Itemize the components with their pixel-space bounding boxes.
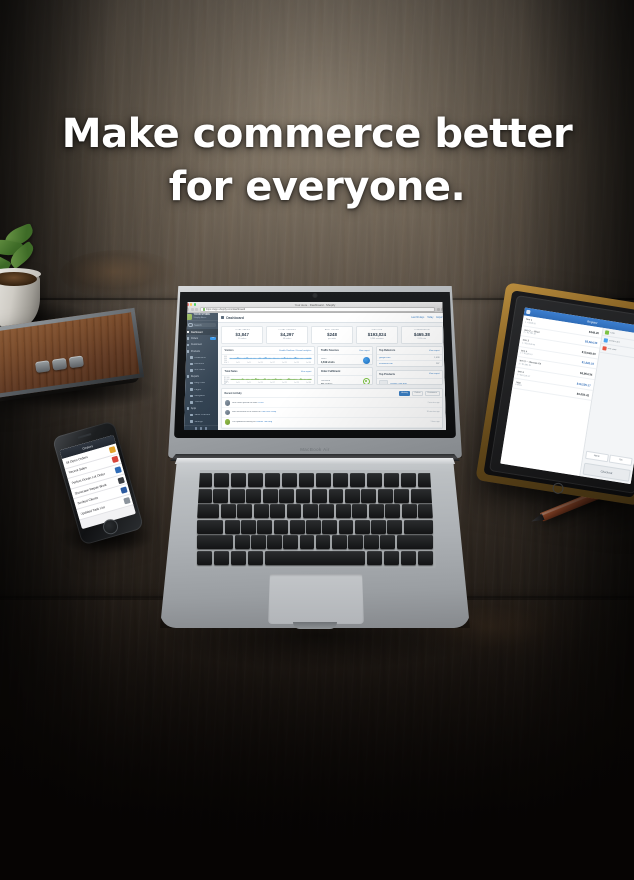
key[interactable] <box>197 551 212 565</box>
key[interactable] <box>230 489 245 503</box>
search-icon <box>188 323 193 328</box>
key[interactable] <box>306 520 321 534</box>
key[interactable] <box>248 473 263 487</box>
sidebar-item-label: Sales Channels <box>194 414 210 416</box>
traffic-source-icon <box>363 357 370 364</box>
key[interactable] <box>402 504 417 518</box>
key[interactable] <box>371 520 386 534</box>
fulfilment-text: Unfulfilled18 orders <box>321 380 361 385</box>
key[interactable] <box>361 489 376 503</box>
pages-icon <box>190 388 193 391</box>
keyboard-row <box>197 535 433 549</box>
brand[interactable]: YOUR STORE Shopify Admin <box>184 313 218 321</box>
key[interactable] <box>283 535 298 549</box>
visitors-chart: 6004002000 <box>224 357 312 359</box>
chart-title: Visitors <box>225 349 234 352</box>
pos-item-price: $1,520.10 <box>581 360 594 366</box>
traffic-value: 4,819 visits <box>321 361 361 364</box>
stat-label: TOTAL SALES <box>224 329 260 331</box>
key[interactable] <box>385 504 400 518</box>
reload-icon[interactable] <box>195 308 198 311</box>
sales-chart: $1,500$1,000$500$0 <box>224 378 312 380</box>
share-icon[interactable] <box>437 308 440 311</box>
key[interactable] <box>418 504 433 518</box>
step-ring-icon <box>363 378 370 385</box>
stat-card: VISITORS$193,0243,204 sessions <box>356 326 398 344</box>
top-referrers-card: Top Referrers View report google.com1,03… <box>376 346 443 367</box>
key[interactable] <box>251 535 266 549</box>
stat-sub: 2.4% rate <box>404 338 440 340</box>
key[interactable] <box>263 489 278 503</box>
order-status-icon <box>120 487 127 494</box>
x-tick: Jul 5 <box>236 362 240 364</box>
shopify-admin[interactable]: YOUR STORE Shopify Admin Search Dashboar… <box>184 313 446 430</box>
chart-link[interactable]: View report <box>301 371 311 373</box>
trackpad[interactable] <box>268 574 364 624</box>
key[interactable] <box>378 489 393 503</box>
lock-icon <box>203 308 205 310</box>
sidebar-item-label: Customers <box>191 343 203 346</box>
x-tick: Jul 25 <box>294 382 299 384</box>
x-tick: Jul 5 <box>236 382 240 384</box>
charts-column: Visitors Enable Realtime / Funnel analyt… <box>221 346 315 385</box>
product-thumbnail <box>379 380 388 385</box>
sidebar-item-label: Collections <box>194 357 205 359</box>
activity-row: Sara McKenzie left a review on Oak Desk … <box>222 408 442 418</box>
admin-content: Dashboard Last 30 daysTodayExport TOTAL … <box>218 313 446 430</box>
card-header: Top Referrers View report <box>377 347 442 355</box>
order-status-icon <box>123 497 130 504</box>
stat-card: TOTAL SALES$3,84730 orders <box>221 326 263 344</box>
keyboard-row <box>197 473 433 487</box>
stat-sub: per order <box>314 338 350 340</box>
panel-link[interactable]: View report <box>429 373 439 375</box>
notifications-icon[interactable] <box>200 427 203 430</box>
x-tick: Jul 13 <box>258 382 263 384</box>
key[interactable] <box>367 473 382 487</box>
customers-icon <box>187 344 190 347</box>
x-tick: Jul 21 <box>282 362 287 364</box>
header-links[interactable]: Last 30 daysTodayExport <box>411 317 443 319</box>
dashboard-board: TOTAL SALES$3,84730 ordersTOTAL ORDERS$4… <box>218 323 446 430</box>
card-header: Visitors Enable Realtime / Funnel analyt… <box>222 347 314 355</box>
keyboard-row <box>197 520 433 534</box>
stat-cards: TOTAL SALES$3,84730 ordersTOTAL ORDERS$4… <box>221 326 443 344</box>
referrer-name[interactable]: google.com <box>379 357 432 359</box>
sidebar-item-label: Navigation <box>194 395 205 397</box>
pos-item-price: $3,050.42 <box>576 392 589 398</box>
chart-link[interactable]: Enable Realtime / Funnel analytics <box>279 350 311 352</box>
key[interactable] <box>397 535 433 549</box>
order-status-icon <box>108 446 115 453</box>
pos-item-price: $5,564.30 <box>585 339 598 345</box>
headline-line-2: for everyone. <box>0 161 634 214</box>
key[interactable] <box>336 504 351 518</box>
key[interactable] <box>197 504 219 518</box>
store-subtitle: Shopify Admin <box>194 317 210 319</box>
page-title: Make commerce better for everyone. <box>0 108 634 214</box>
key[interactable] <box>401 551 416 565</box>
page-heading: Dashboard <box>226 316 244 320</box>
apps-icon <box>187 407 190 410</box>
payment-swatch-icon <box>602 346 607 351</box>
x-tick: Jul 25 <box>294 362 299 364</box>
nav-icon <box>190 395 193 398</box>
stat-card: TOTAL ORDERS$4,29748 orders <box>266 326 308 344</box>
key[interactable] <box>319 504 334 518</box>
x-tick: Jul 30 <box>306 362 311 364</box>
dashboard-icon <box>221 316 224 319</box>
product-name[interactable]: Leather Tote Bag <box>390 383 407 385</box>
sidebar-item-label: Gift Cards <box>194 369 204 371</box>
card-header: Top Products View report <box>377 371 442 379</box>
key[interactable] <box>333 473 348 487</box>
activity-text: John Smith placed an order #1042 <box>232 402 426 404</box>
sidebar-nav[interactable]: DashboardOrders12CustomersProductsCollec… <box>184 329 218 425</box>
activity-tab[interactable]: Activity <box>399 391 411 396</box>
key[interactable] <box>248 551 263 565</box>
stat-sub: 48 orders <box>269 338 305 340</box>
avatar <box>225 400 231 406</box>
sidebar-item-label: Blog Posts <box>194 382 205 384</box>
stat-value: $193,024 <box>359 332 395 337</box>
channels-icon <box>190 414 193 417</box>
key[interactable] <box>350 473 365 487</box>
stat-value: $4,297 <box>269 332 305 337</box>
card-header: Order Fulfilment <box>318 368 372 376</box>
key[interactable] <box>332 535 347 549</box>
key[interactable] <box>274 520 289 534</box>
activity-rows: John Smith placed an order #10422 minute… <box>222 398 442 427</box>
key[interactable] <box>303 504 318 518</box>
admin-topbar: Dashboard Last 30 daysTodayExport <box>218 313 446 323</box>
products-icon <box>187 350 190 353</box>
key[interactable] <box>369 504 384 518</box>
stat-label: AVG. ORDER <box>314 329 350 331</box>
key[interactable] <box>316 473 331 487</box>
avatar <box>225 419 231 425</box>
y-tick: $0 <box>224 384 230 386</box>
activity-link[interactable]: Oak Desk Lamp <box>261 411 276 413</box>
activity-tab[interactable]: Customers <box>425 391 440 396</box>
y-axis-ticks: 6004002000 <box>224 357 227 359</box>
panel-title: Top Products <box>379 373 395 376</box>
panel-title: Top Referrers <box>379 349 395 352</box>
activity-text: You updated inventory for Leather Tote B… <box>232 421 428 423</box>
x-tick: Jul 30 <box>306 382 311 384</box>
avatar <box>225 410 231 416</box>
activity-link[interactable]: Leather Tote Bag <box>256 421 272 423</box>
x-tick: Jul 17 <box>270 382 275 384</box>
laptop-lid: Your store · Dashboard · Shopify https:/… <box>168 286 462 458</box>
themes-icon <box>190 401 193 404</box>
activity-link[interactable]: #1042 <box>258 402 264 404</box>
key[interactable] <box>257 520 272 534</box>
x-axis-ticks: Jul 1Jul 5Jul 9Jul 13Jul 17Jul 21Jul 25J… <box>222 362 314 364</box>
key[interactable] <box>213 489 228 503</box>
key[interactable] <box>235 535 250 549</box>
payment-swatch-icon <box>603 338 608 343</box>
laptop-base-top-edge <box>160 458 470 464</box>
macbook-air[interactable]: Your store · Dashboard · Shopify https:/… <box>160 286 470 666</box>
fulfilment-rows: Unfulfilled18 ordersPartially Fulfilled4… <box>318 376 372 385</box>
product-rows[interactable]: Leather Tote Bag82 soldOak Desk Lamp64 s… <box>377 379 442 386</box>
y-tick: 0 <box>224 363 227 365</box>
activity-time: 18 minutes ago <box>427 411 440 413</box>
sidebar-item-label: Pages <box>194 389 201 391</box>
order-status-icon <box>111 456 118 463</box>
activity-tab[interactable]: Orders <box>412 391 423 396</box>
sidebar-item-label: Orders <box>191 337 198 340</box>
keyboard-row <box>197 551 433 565</box>
account-icon[interactable] <box>205 427 208 430</box>
key[interactable] <box>339 520 354 534</box>
laptop-screen[interactable]: Your store · Dashboard · Shopify https:/… <box>184 302 446 430</box>
keyboard-row <box>197 504 433 518</box>
speaker-button-next[interactable] <box>69 355 84 368</box>
browser-tab-title: Your store · Dashboard · Shopify <box>184 303 446 307</box>
help-icon[interactable] <box>195 427 198 430</box>
stat-card: CONVERSION$465.382.4% rate <box>401 326 443 344</box>
chart-title: Total Sales <box>225 370 238 373</box>
activity-time: 2 minutes ago <box>428 402 440 404</box>
traffic-text: Direct4,819 visits <box>321 358 361 364</box>
key[interactable] <box>290 520 305 534</box>
referrer-rows[interactable]: google.com1,038facebook.com287twitter.co… <box>377 355 442 367</box>
pos-item-price: $10,225.17 <box>577 381 591 387</box>
key[interactable] <box>270 504 285 518</box>
browser-titlebar: Your store · Dashboard · Shopify <box>184 302 446 307</box>
key[interactable] <box>197 535 233 549</box>
visitors-chart-svg <box>224 357 312 359</box>
key[interactable] <box>221 504 236 518</box>
key[interactable] <box>300 535 315 549</box>
key[interactable] <box>214 473 229 487</box>
key[interactable] <box>355 520 370 534</box>
menu-icon[interactable] <box>526 310 531 315</box>
payment-label: Cash <box>610 332 615 335</box>
key[interactable] <box>384 473 399 487</box>
sidebar-item-label: Settings <box>194 421 202 423</box>
key[interactable] <box>348 535 363 549</box>
key[interactable] <box>418 551 433 565</box>
browser-chrome[interactable]: Your store · Dashboard · Shopify https:/… <box>184 302 446 313</box>
card-header: Total Sales View report <box>222 368 314 376</box>
activity-row: You updated inventory for Leather Tote B… <box>222 418 442 428</box>
fulfilment-step <box>363 378 370 385</box>
panel-link[interactable]: View report <box>429 350 439 352</box>
activity-time: 1 hour ago <box>430 421 439 423</box>
key[interactable] <box>404 520 433 534</box>
panel-title: Order Fulfilment <box>321 370 340 373</box>
pos-item-price: $348.20 <box>589 329 600 335</box>
order-status-icon <box>114 466 121 473</box>
key[interactable] <box>282 473 297 487</box>
header-link[interactable]: Last 30 days <box>411 317 424 319</box>
key[interactable] <box>367 551 382 565</box>
search-placeholder: Search <box>194 324 202 327</box>
order-fulfilment-card: Order Fulfilment Unfulfilled18 ordersPar… <box>317 367 373 385</box>
fulfilment-value: 18 orders <box>321 383 361 386</box>
gift-icon <box>190 369 193 372</box>
product-row: Leather Tote Bag82 sold <box>377 379 442 386</box>
sidebar-item-badge: 12 <box>210 337 215 340</box>
key[interactable] <box>246 489 261 503</box>
stat-sub: 3,204 sessions <box>359 338 395 340</box>
dashboard-columns: Visitors Enable Realtime / Funnel analyt… <box>221 346 443 385</box>
sidebar-item-label: Themes <box>194 401 202 403</box>
payment-label: Gift Card <box>607 348 616 351</box>
key[interactable] <box>231 473 246 487</box>
pos-app-title: Register <box>587 319 598 325</box>
key[interactable] <box>364 535 379 549</box>
sidebar-footer[interactable] <box>184 425 218 430</box>
key[interactable] <box>299 473 314 487</box>
y-axis-ticks: $1,500$1,000$500$0 <box>224 378 230 380</box>
panel-link[interactable]: View report <box>359 350 369 352</box>
key[interactable] <box>394 489 409 503</box>
activity-title: Recent Activity <box>225 392 242 395</box>
middle-column: Traffic Sources View report Direct4,819 … <box>317 346 373 385</box>
key[interactable] <box>279 489 294 503</box>
laptop-model-label: MacBook Air <box>168 447 462 452</box>
tablet-screen[interactable]: Register Item 11 × $348.20$348.20Item 2 … <box>500 307 634 484</box>
speaker-button-play[interactable] <box>52 358 67 371</box>
product-info: Leather Tote Bag82 sold <box>390 383 407 386</box>
key[interactable] <box>387 520 402 534</box>
activity-header: Recent Activity ActivityOrdersCustomers <box>222 389 442 399</box>
sidebar-item-settings[interactable]: Settings <box>184 418 218 424</box>
sidebar-item-label: Dashboard <box>191 331 203 334</box>
payment-options[interactable]: CashCredit CardGift Card <box>599 328 634 360</box>
pos-item-price: $5,954.34 <box>580 371 593 377</box>
top-products-card: Top Products View report Leather Tote Ba… <box>376 370 443 386</box>
referrer-row: facebook.com287 <box>377 361 442 367</box>
sidebar-item-label: Apps <box>191 407 196 410</box>
key[interactable] <box>411 489 433 503</box>
headline-line-1: Make commerce better <box>62 111 572 157</box>
key[interactable] <box>380 535 395 549</box>
pos-key[interactable]: Name <box>585 451 609 462</box>
pos-item-price: $10,649.40 <box>582 350 596 356</box>
stat-label: VISITORS <box>359 329 395 331</box>
url-text: https://app.shopify.com/dashboard <box>206 308 245 311</box>
key[interactable] <box>265 473 280 487</box>
url-bar[interactable]: https://app.shopify.com/dashboard <box>200 307 436 313</box>
key[interactable] <box>345 489 360 503</box>
pos-body: Item 11 × $348.20$348.20Item 2 — Wool2 ×… <box>500 315 634 484</box>
panel-title: Traffic Sources <box>321 349 339 352</box>
forward-icon[interactable] <box>191 308 194 311</box>
stat-sub: 30 orders <box>224 338 260 340</box>
fulfilment-row: Unfulfilled18 orders <box>318 376 372 385</box>
reports-icon <box>187 375 190 378</box>
key[interactable] <box>287 504 302 518</box>
sidebar[interactable]: YOUR STORE Shopify Admin Search Dashboar… <box>184 313 218 430</box>
referrer-count: 287 <box>436 363 440 365</box>
referrer-count: 1,038 <box>434 357 439 359</box>
stat-value: $3,847 <box>224 332 260 337</box>
key[interactable] <box>237 504 252 518</box>
key[interactable] <box>214 551 229 565</box>
gear-icon <box>190 420 193 423</box>
key[interactable] <box>322 520 337 534</box>
orders-icon <box>187 337 190 340</box>
key[interactable] <box>329 489 344 503</box>
payment-label: Credit Card <box>609 340 620 344</box>
sales-chart-card: Total Sales View report <box>221 367 315 385</box>
key[interactable] <box>197 489 212 503</box>
browser-toolbar[interactable]: https://app.shopify.com/dashboard <box>184 307 446 312</box>
laptop-open-notch <box>293 622 337 629</box>
key[interactable] <box>231 551 246 565</box>
recent-activity: Recent Activity ActivityOrdersCustomers … <box>221 388 443 429</box>
traffic-rows: Direct4,819 visitsSearch3,274 visitsRefe… <box>318 355 372 364</box>
speaker-button-prev[interactable] <box>35 360 50 373</box>
x-tick: Jul 21 <box>282 382 287 384</box>
discounts-icon <box>190 363 193 366</box>
stat-label: CONVERSION <box>404 329 440 331</box>
search-input[interactable]: Search <box>186 323 216 328</box>
sidebar-item-label: Discounts <box>194 363 204 365</box>
webcam-icon <box>314 294 317 297</box>
order-status-icon <box>117 477 124 484</box>
x-tick: Jul 17 <box>270 362 275 364</box>
referrer-name[interactable]: facebook.com <box>379 363 434 365</box>
x-axis-ticks: Jul 1Jul 5Jul 9Jul 13Jul 17Jul 21Jul 25J… <box>222 382 314 384</box>
home-icon <box>187 331 190 334</box>
key[interactable] <box>225 520 240 534</box>
visitors-chart-card: Visitors Enable Realtime / Funnel analyt… <box>221 346 315 364</box>
traffic-row: Direct4,819 visits <box>318 355 372 364</box>
stat-label: TOTAL ORDERS <box>269 329 305 331</box>
key[interactable] <box>267 535 282 549</box>
traffic-sources-card: Traffic Sources View report Direct4,819 … <box>317 346 373 364</box>
activity-tabs[interactable]: ActivityOrdersCustomers <box>399 391 440 396</box>
key[interactable] <box>316 535 331 549</box>
activity-row: John Smith placed an order #10422 minute… <box>222 398 442 408</box>
key[interactable] <box>384 551 399 565</box>
stat-card: AVG. ORDER$248per order <box>311 326 353 344</box>
pos-key[interactable]: Tax <box>609 455 633 466</box>
key[interactable] <box>296 489 311 503</box>
header-link[interactable]: Today <box>427 317 433 319</box>
key[interactable] <box>197 520 223 534</box>
keyboard[interactable] <box>194 470 436 568</box>
hero-scene: Make commerce better for everyone. Order… <box>0 0 634 880</box>
card-header: Traffic Sources View report <box>318 347 372 355</box>
key[interactable] <box>312 489 327 503</box>
key[interactable] <box>241 520 256 534</box>
x-tick: Jul 9 <box>247 382 251 384</box>
succulent-plant <box>0 222 74 332</box>
keyboard-row <box>197 489 433 503</box>
right-column: Top Referrers View report google.com1,03… <box>376 346 443 385</box>
key[interactable] <box>401 473 416 487</box>
blog-icon <box>190 382 193 385</box>
key[interactable] <box>265 551 365 565</box>
stat-value: $465.38 <box>404 332 440 337</box>
payment-swatch-icon <box>604 330 609 335</box>
collections-icon <box>190 356 193 359</box>
header-link[interactable]: Export <box>436 317 443 319</box>
key[interactable] <box>254 504 269 518</box>
sales-chart-svg <box>224 378 312 380</box>
key[interactable] <box>352 504 367 518</box>
x-tick: Jul 13 <box>258 362 263 364</box>
sidebar-item-label: Reports <box>191 375 199 378</box>
sidebar-item-label: Products <box>191 350 200 353</box>
